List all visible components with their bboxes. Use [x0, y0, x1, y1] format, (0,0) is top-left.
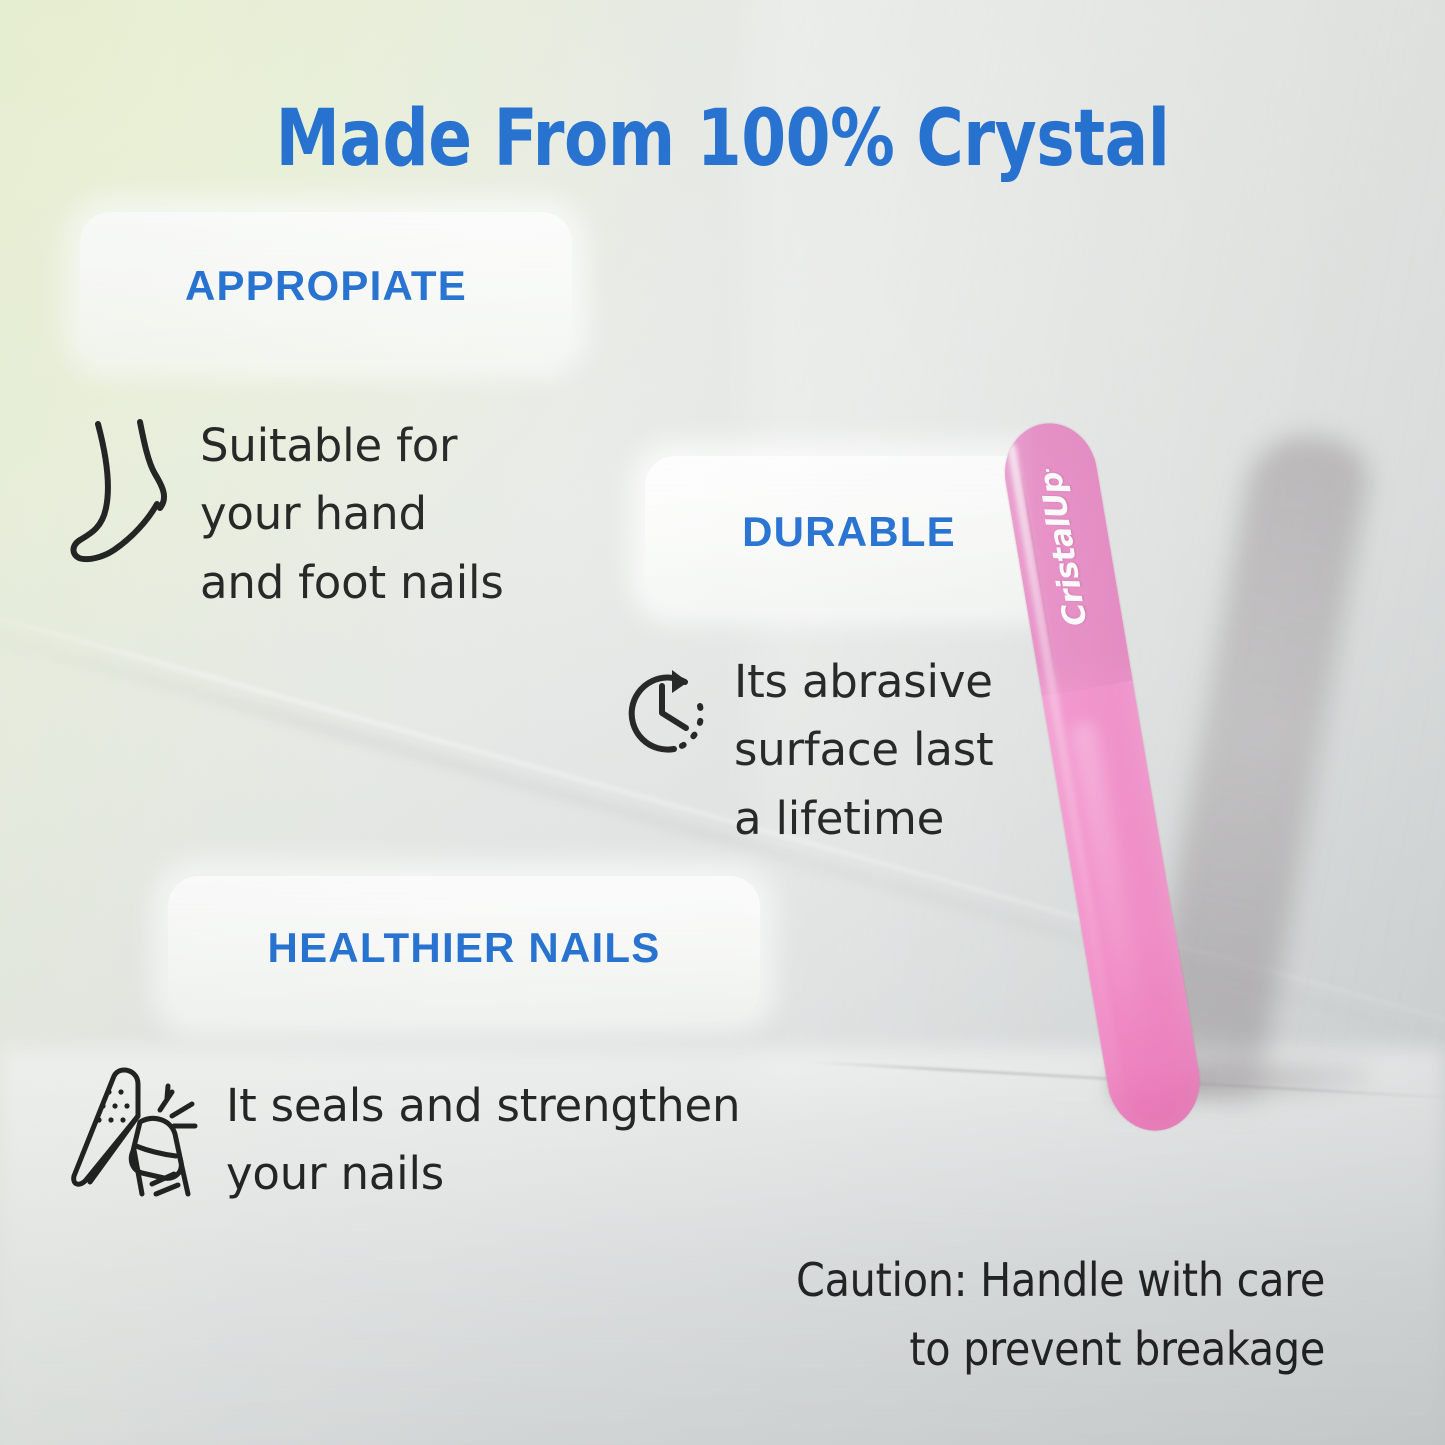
- foot-icon: [62, 408, 182, 573]
- feature-suitable: Suitable for your hand and foot nails: [62, 408, 504, 617]
- feature-seals-line2: your nails: [226, 1140, 740, 1208]
- product-nail-file: CristalUp.: [1020, 408, 1320, 1148]
- badge-appropiate: APPROPIATE: [80, 212, 572, 360]
- caution-line1: Caution: Handle with care: [796, 1246, 1325, 1315]
- page-title: Made From 100% Crystal: [58, 100, 1387, 178]
- feature-seals: It seals and strengthen your nails: [68, 1058, 740, 1209]
- feature-abrasive: Its abrasive surface last a lifetime: [612, 648, 993, 853]
- infographic-canvas: Made From 100% Crystal APPROPIATE DURABL…: [0, 0, 1445, 1445]
- feature-suitable-line3: and foot nails: [200, 549, 504, 617]
- badge-appropiate-label: APPROPIATE: [185, 262, 467, 310]
- page-title-part2: 100% Crystal: [697, 94, 1170, 184]
- badge-durable-label: DURABLE: [742, 508, 956, 556]
- feature-seals-line1: It seals and strengthen: [226, 1072, 740, 1140]
- caution-line2: to prevent breakage: [796, 1315, 1325, 1384]
- feature-suitable-line1: Suitable for: [200, 412, 504, 480]
- feature-suitable-line2: your hand: [200, 480, 504, 548]
- product-body: CristalUp.: [997, 416, 1207, 1137]
- product-tip-shade: [1105, 1053, 1207, 1137]
- page-title-part1: Made From: [276, 94, 697, 184]
- clock-icon: [612, 660, 716, 769]
- nail-file-icon: [68, 1058, 208, 1203]
- badge-durable: DURABLE: [645, 456, 1053, 608]
- feature-abrasive-line3: a lifetime: [734, 785, 993, 853]
- badge-healthier-nails: HEALTHIER NAILS: [168, 876, 760, 1020]
- feature-abrasive-line1: Its abrasive: [734, 648, 993, 716]
- badge-healthier-nails-label: HEALTHIER NAILS: [268, 924, 661, 972]
- feature-abrasive-text: Its abrasive surface last a lifetime: [734, 648, 993, 853]
- feature-seals-text: It seals and strengthen your nails: [226, 1072, 740, 1209]
- caution-note: Caution: Handle with care to prevent bre…: [796, 1246, 1325, 1384]
- feature-suitable-text: Suitable for your hand and foot nails: [200, 412, 504, 617]
- feature-abrasive-line2: surface last: [734, 716, 993, 784]
